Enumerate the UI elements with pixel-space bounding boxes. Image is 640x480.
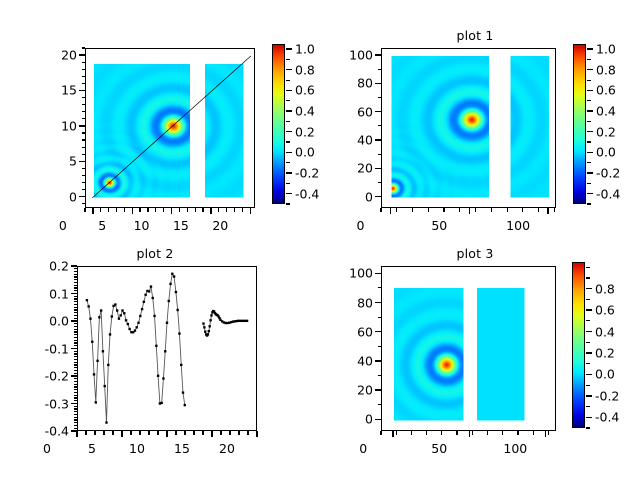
data-point-marker: [182, 391, 184, 393]
data-point-marker: [153, 315, 155, 317]
x-tick-minor: [220, 431, 221, 435]
x-tick-minor: [184, 431, 185, 435]
y-tick-minor: [82, 203, 86, 204]
y-tick-major: [375, 83, 381, 84]
y-tick-label: 0.2: [35, 259, 69, 274]
data-point-marker: [162, 377, 164, 379]
data-point-marker: [120, 314, 122, 316]
x-tick-minor: [139, 208, 140, 212]
colorbar-tick-label: -0.4: [596, 186, 620, 201]
data-point-marker: [139, 315, 141, 317]
x-tick-major: [390, 208, 391, 214]
y-tick-minor: [74, 318, 78, 319]
colorbar-tick-major: [286, 131, 292, 132]
data-point-marker: [86, 299, 88, 301]
colorbar-tick-major: [587, 90, 593, 91]
y-tick-minor: [82, 168, 86, 169]
x-tick-minor: [163, 208, 164, 212]
axes-bottom-right: [381, 266, 556, 431]
colorbar: [272, 44, 285, 204]
y-tick-major: [375, 302, 381, 303]
y-tick-minor: [74, 290, 78, 291]
heatmap-image: [382, 49, 555, 207]
x-tick-minor: [380, 208, 381, 212]
y-tick-major: [375, 54, 381, 55]
x-tick-major: [210, 208, 211, 214]
colorbar-tick-minor: [286, 141, 290, 142]
x-tick-major: [166, 431, 167, 437]
colorbar-tick-label: 0.2: [596, 124, 616, 139]
y-tick-minor: [74, 304, 78, 305]
y-tick-minor: [82, 154, 86, 155]
x-tick-label: 100: [485, 441, 545, 456]
y-tick-major: [375, 168, 381, 169]
data-point-marker: [150, 285, 152, 287]
x-tick-minor: [175, 431, 176, 435]
x-tick-minor: [108, 208, 109, 212]
x-tick-minor: [124, 208, 125, 212]
x-tick-minor: [195, 208, 196, 212]
y-tick-minor: [74, 408, 78, 409]
data-point-marker: [169, 283, 171, 285]
colorbar-gradient: [574, 45, 585, 203]
subplot-bottom-left: plot 2 -0.4-0.3-0.2-0.10.00.10.205101520: [0, 240, 320, 480]
colorbar-tick-major: [587, 193, 593, 194]
y-tick-minor: [378, 125, 382, 126]
y-tick-minor: [74, 298, 78, 299]
y-tick-minor: [82, 83, 86, 84]
data-point-marker: [109, 333, 111, 335]
colorbar-tick-label: 0.8: [595, 281, 615, 296]
y-tick-minor: [74, 414, 78, 415]
colorbar-tick-minor: [587, 162, 591, 163]
data-point-marker: [121, 309, 123, 311]
data-point-marker: [128, 328, 130, 330]
x-tick-minor: [517, 431, 518, 435]
y-tick-minor: [82, 189, 86, 190]
colorbar-tick-major: [286, 193, 292, 194]
y-tick-minor: [378, 154, 382, 155]
colorbar-tick-label: 0.6: [295, 83, 315, 98]
colorbar-tick-minor: [586, 385, 590, 386]
x-tick-minor: [507, 208, 508, 212]
y-tick-label: 0: [339, 412, 373, 427]
data-point-marker: [107, 364, 109, 366]
x-tick-minor: [538, 208, 539, 212]
x-tick-major: [92, 208, 93, 214]
x-tick-minor: [193, 431, 194, 435]
axes-top-left: [85, 48, 255, 208]
colorbar-tick-major: [586, 374, 592, 375]
y-tick-label: 0: [339, 189, 373, 204]
y-tick-label: 100: [339, 266, 373, 281]
colorbar-tick-label: 0.8: [295, 62, 315, 77]
y-tick-minor: [74, 384, 78, 385]
y-tick-minor: [378, 346, 382, 347]
data-point-marker: [180, 364, 182, 366]
x-tick-minor: [94, 431, 95, 435]
x-tick-minor: [554, 208, 555, 212]
y-tick-minor: [82, 147, 86, 148]
x-tick-minor: [155, 208, 156, 212]
y-tick-minor: [74, 326, 78, 327]
y-tick-minor: [74, 389, 78, 390]
data-point-marker: [171, 273, 173, 275]
x-tick-major: [250, 208, 251, 214]
y-tick-label: 20: [339, 383, 373, 398]
x-tick-label: 50: [409, 218, 469, 233]
data-point-marker: [202, 322, 204, 324]
colorbar-tick-major: [587, 172, 593, 173]
y-tick-minor: [74, 287, 78, 288]
y-tick-minor: [82, 69, 86, 70]
y-tick-major: [79, 196, 85, 197]
y-tick-minor: [74, 342, 78, 343]
colorbar-tick-major: [587, 69, 593, 70]
x-tick-minor: [202, 208, 203, 212]
axes-inner-bottom-right: [382, 267, 555, 430]
data-point-marker: [104, 385, 106, 387]
x-tick-label: 0: [333, 441, 393, 456]
x-tick-minor: [229, 431, 230, 435]
y-tick-minor: [74, 367, 78, 368]
data-point-marker: [144, 294, 146, 296]
y-tick-major: [71, 320, 77, 321]
y-tick-minor: [74, 359, 78, 360]
colorbar-tick-major: [286, 152, 292, 153]
axes-inner-top-right: [382, 49, 555, 207]
colorbar-tick-label: 0.6: [596, 83, 616, 98]
y-tick-minor: [378, 97, 382, 98]
colorbar-tick-minor: [286, 59, 290, 60]
x-tick-major: [121, 431, 122, 437]
x-tick-minor: [412, 208, 413, 212]
data-point-marker: [166, 322, 168, 324]
y-tick-label: 40: [339, 133, 373, 148]
colorbar-tick-minor: [587, 80, 591, 81]
colorbar-tick-major: [587, 152, 593, 153]
colorbar-tick-label: -0.2: [595, 388, 619, 403]
colorbar-tick-label: 1.0: [295, 42, 315, 57]
colorbar-tick-minor: [586, 267, 590, 268]
y-tick-minor: [74, 362, 78, 363]
data-point-marker: [118, 317, 120, 319]
y-tick-major: [375, 111, 381, 112]
y-tick-minor: [74, 276, 78, 277]
y-tick-minor: [74, 378, 78, 379]
y-tick-minor: [378, 317, 382, 318]
colorbar: [572, 262, 585, 428]
y-tick-minor: [74, 353, 78, 354]
colorbar-tick-label: -0.4: [595, 410, 619, 425]
y-tick-minor: [82, 139, 86, 140]
data-point-marker: [160, 402, 162, 404]
x-tick-minor: [148, 431, 149, 435]
y-tick-minor: [74, 271, 78, 272]
colorbar-tick-major: [587, 131, 593, 132]
data-point-marker: [89, 317, 91, 319]
y-tick-minor: [74, 282, 78, 283]
y-tick-minor: [74, 334, 78, 335]
data-point-marker: [184, 404, 186, 406]
data-point-marker: [164, 350, 166, 352]
x-tick-minor: [411, 431, 412, 435]
y-tick-minor: [378, 182, 382, 183]
y-tick-minor: [82, 47, 86, 48]
x-tick-minor: [522, 208, 523, 212]
colorbar-tick-label: -0.2: [295, 166, 319, 181]
subplot-top-right: plot 1 020406080100050100-0.4-0.20.00.20…: [320, 0, 640, 240]
x-tick-minor: [226, 208, 227, 212]
x-tick-minor: [157, 431, 158, 435]
colorbar-tick-label: -0.2: [596, 166, 620, 181]
x-tick-major: [132, 208, 133, 214]
y-tick-minor: [74, 392, 78, 393]
colorbar-tick-label: -0.4: [295, 186, 319, 201]
y-tick-minor: [378, 287, 382, 288]
y-tick-minor: [74, 406, 78, 407]
x-tick-minor: [502, 431, 503, 435]
x-tick-minor: [218, 208, 219, 212]
colorbar-tick-minor: [587, 121, 591, 122]
y-tick-minor: [74, 419, 78, 420]
colorbar-tick-major: [286, 110, 292, 111]
y-tick-minor: [74, 400, 78, 401]
x-tick-major: [76, 431, 77, 437]
y-tick-label: -0.1: [35, 341, 69, 356]
y-tick-minor: [74, 279, 78, 280]
x-tick-minor: [441, 431, 442, 435]
y-tick-minor: [74, 323, 78, 324]
colorbar-tick-major: [586, 288, 592, 289]
colorbar-tick-major: [286, 69, 292, 70]
x-tick-minor: [487, 431, 488, 435]
x-tick-label: 50: [409, 441, 469, 456]
data-point-marker: [137, 322, 139, 324]
y-tick-minor: [82, 76, 86, 77]
y-tick-major: [79, 54, 85, 55]
x-tick-minor: [112, 431, 113, 435]
data-point-marker: [87, 305, 89, 307]
x-tick-minor: [116, 208, 117, 212]
line-series-group: [78, 267, 256, 430]
y-tick-minor: [74, 397, 78, 398]
y-tick-minor: [82, 97, 86, 98]
x-tick-minor: [459, 208, 460, 212]
y-tick-label: 20: [339, 161, 373, 176]
colorbar-tick-label: 0.8: [596, 62, 616, 77]
data-point-marker: [93, 373, 95, 375]
x-tick-major: [171, 208, 172, 214]
colorbar-tick-major: [587, 48, 593, 49]
y-tick-label: 15: [43, 83, 77, 98]
y-tick-major: [375, 419, 381, 420]
x-tick-major: [469, 208, 470, 214]
axes-inner-bottom-left: [78, 267, 256, 430]
data-point-marker: [210, 314, 212, 316]
data-point-marker: [209, 319, 211, 321]
x-tick-minor: [491, 208, 492, 212]
x-tick-major: [547, 208, 548, 214]
figure-canvas: 0510152005101520-0.4-0.20.00.20.40.60.81…: [0, 0, 640, 480]
y-tick-major: [375, 331, 381, 332]
colorbar-tick-major: [586, 352, 592, 353]
y-tick-minor: [74, 381, 78, 382]
y-tick-minor: [74, 345, 78, 346]
y-tick-label: 20: [43, 48, 77, 63]
x-tick-minor: [428, 208, 429, 212]
colorbar-tick-minor: [587, 100, 591, 101]
colorbar-tick-label: 0.4: [595, 324, 615, 339]
overlay-diagonal-line: [86, 49, 254, 207]
subplot-title-bottom-left: plot 2: [50, 246, 260, 261]
data-point-marker: [98, 316, 100, 318]
colorbar-tick-minor: [586, 342, 590, 343]
colorbar-tick-minor: [286, 100, 290, 101]
x-tick-major: [211, 431, 212, 437]
colorbar-tick-major: [286, 90, 292, 91]
colorbar-tick-minor: [587, 59, 591, 60]
y-tick-label: 0.1: [35, 286, 69, 301]
y-tick-minor: [74, 370, 78, 371]
y-tick-major: [375, 139, 381, 140]
subplot-title-bottom-right: plot 3: [370, 246, 580, 261]
y-tick-minor: [82, 132, 86, 133]
data-point-marker: [155, 345, 157, 347]
subplot-bottom-right: plot 3 020406080100050100-0.4-0.20.00.20…: [320, 240, 640, 480]
data-point-marker: [168, 300, 170, 302]
colorbar-tick-minor: [586, 363, 590, 364]
x-tick-minor: [472, 431, 473, 435]
colorbar-tick-minor: [286, 121, 290, 122]
y-tick-major: [375, 273, 381, 274]
x-tick-minor: [396, 431, 397, 435]
y-tick-minor: [74, 312, 78, 313]
x-tick-minor: [475, 208, 476, 212]
colorbar-tick-minor: [587, 203, 591, 204]
colorbar-tick-major: [586, 331, 592, 332]
y-tick-minor: [74, 425, 78, 426]
y-tick-label: 100: [339, 48, 373, 63]
y-tick-major: [375, 196, 381, 197]
heatmap-image: [382, 267, 555, 430]
x-tick-label: 20: [190, 218, 250, 233]
colorbar-tick-major: [587, 110, 593, 111]
subplot-title-top-right: plot 1: [370, 28, 580, 43]
x-tick-minor: [234, 208, 235, 212]
y-tick-label: -0.4: [35, 424, 69, 439]
data-point-marker: [207, 333, 209, 335]
data-point-marker: [100, 309, 102, 311]
data-point-marker: [143, 301, 145, 303]
y-tick-minor: [378, 69, 382, 70]
y-tick-label: 5: [43, 154, 77, 169]
colorbar-tick-major: [586, 417, 592, 418]
y-tick-minor: [74, 307, 78, 308]
subplot-top-left: 0510152005101520-0.4-0.20.00.20.40.60.81…: [0, 0, 320, 240]
y-tick-minor: [378, 375, 382, 376]
colorbar-tick-minor: [586, 406, 590, 407]
colorbar-tick-label: 0.4: [295, 104, 315, 119]
data-point-marker: [95, 401, 97, 403]
data-point-marker: [246, 320, 248, 322]
y-tick-minor: [74, 315, 78, 316]
colorbar-gradient: [573, 263, 584, 427]
x-tick-minor: [247, 431, 248, 435]
data-point-marker: [173, 275, 175, 277]
data-point-marker: [116, 309, 118, 311]
data-point-marker: [152, 297, 154, 299]
y-tick-minor: [82, 62, 86, 63]
y-tick-label: 80: [339, 76, 373, 91]
data-point-marker: [178, 332, 180, 334]
colorbar-gradient: [273, 45, 284, 203]
y-tick-minor: [74, 337, 78, 338]
colorbar-tick-label: 0.2: [295, 124, 315, 139]
data-point-marker: [176, 309, 178, 311]
colorbar-tick-major: [586, 309, 592, 310]
x-tick-minor: [139, 431, 140, 435]
colorbar-tick-minor: [286, 80, 290, 81]
colorbar-tick-minor: [586, 277, 590, 278]
y-tick-major: [71, 348, 77, 349]
x-tick-minor: [100, 208, 101, 212]
y-tick-label: -0.3: [35, 396, 69, 411]
y-tick-label: 80: [339, 295, 373, 310]
y-tick-minor: [82, 175, 86, 176]
y-tick-major: [71, 265, 77, 266]
data-point-marker: [123, 312, 125, 314]
x-tick-minor: [548, 431, 549, 435]
colorbar-tick-minor: [587, 141, 591, 142]
data-point-marker: [141, 308, 143, 310]
x-tick-minor: [85, 431, 86, 435]
y-tick-minor: [82, 111, 86, 112]
axes-inner-top-left: [86, 49, 254, 207]
x-tick-minor: [426, 431, 427, 435]
data-point-marker: [204, 331, 206, 333]
data-point-marker: [148, 290, 150, 292]
y-tick-minor: [74, 386, 78, 387]
data-point-marker: [157, 375, 159, 377]
x-tick-major: [469, 431, 470, 437]
y-tick-major: [71, 375, 77, 376]
y-tick-major: [375, 360, 381, 361]
x-tick-minor: [103, 431, 104, 435]
y-tick-minor: [82, 118, 86, 119]
x-tick-minor: [380, 431, 381, 435]
x-tick-major: [545, 431, 546, 437]
data-point-marker: [175, 291, 177, 293]
y-tick-minor: [74, 356, 78, 357]
y-tick-label: 0.0: [35, 314, 69, 329]
y-tick-minor: [74, 268, 78, 269]
colorbar-tick-minor: [286, 183, 290, 184]
data-point-marker: [105, 421, 107, 423]
colorbar-tick-minor: [587, 183, 591, 184]
x-tick-minor: [443, 208, 444, 212]
x-tick-minor: [179, 208, 180, 212]
y-tick-minor: [74, 364, 78, 365]
y-tick-major: [71, 403, 77, 404]
y-tick-minor: [74, 301, 78, 302]
y-tick-minor: [74, 417, 78, 418]
data-point-marker: [127, 323, 129, 325]
data-point-marker: [91, 341, 93, 343]
y-tick-label: 0: [43, 189, 77, 204]
line-path: [87, 274, 185, 423]
colorbar-tick-label: 0.4: [596, 104, 616, 119]
